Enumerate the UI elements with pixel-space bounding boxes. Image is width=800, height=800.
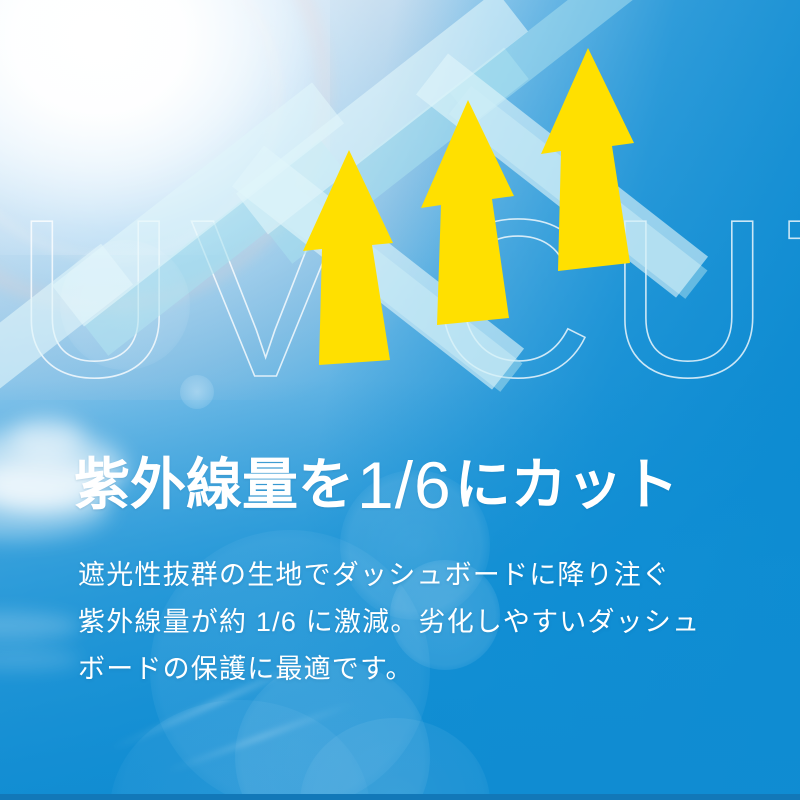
arrow-up-short-icon <box>303 150 393 365</box>
headline-fraction: 1/6 <box>354 448 455 522</box>
headline: 紫外線量を1/6にカット <box>74 452 679 518</box>
headline-suffix: にカット <box>455 453 679 516</box>
body-copy-line-2: 紫外線量が約 1/6 に激減。劣化しやすいダッシュ <box>78 599 768 646</box>
arrow-up-medium-icon <box>421 100 514 325</box>
body-copy-line-3: ボードの保護に最適です。 <box>78 646 768 693</box>
bottom-accent-bar <box>0 794 800 800</box>
body-copy-line-1: 遮光性抜群の生地でダッシュボードに降り注ぐ <box>78 552 768 599</box>
headline-prefix: 紫外線量を <box>74 453 354 516</box>
arrow-up-tall-icon <box>541 48 634 271</box>
banner-root: UV CUT 紫外線量を1/6にカット 遮光性抜群の生地でダッシュボードに降り注… <box>0 0 800 800</box>
body-copy: 遮光性抜群の生地でダッシュボードに降り注ぐ 紫外線量が約 1/6 に激減。劣化し… <box>78 552 768 693</box>
